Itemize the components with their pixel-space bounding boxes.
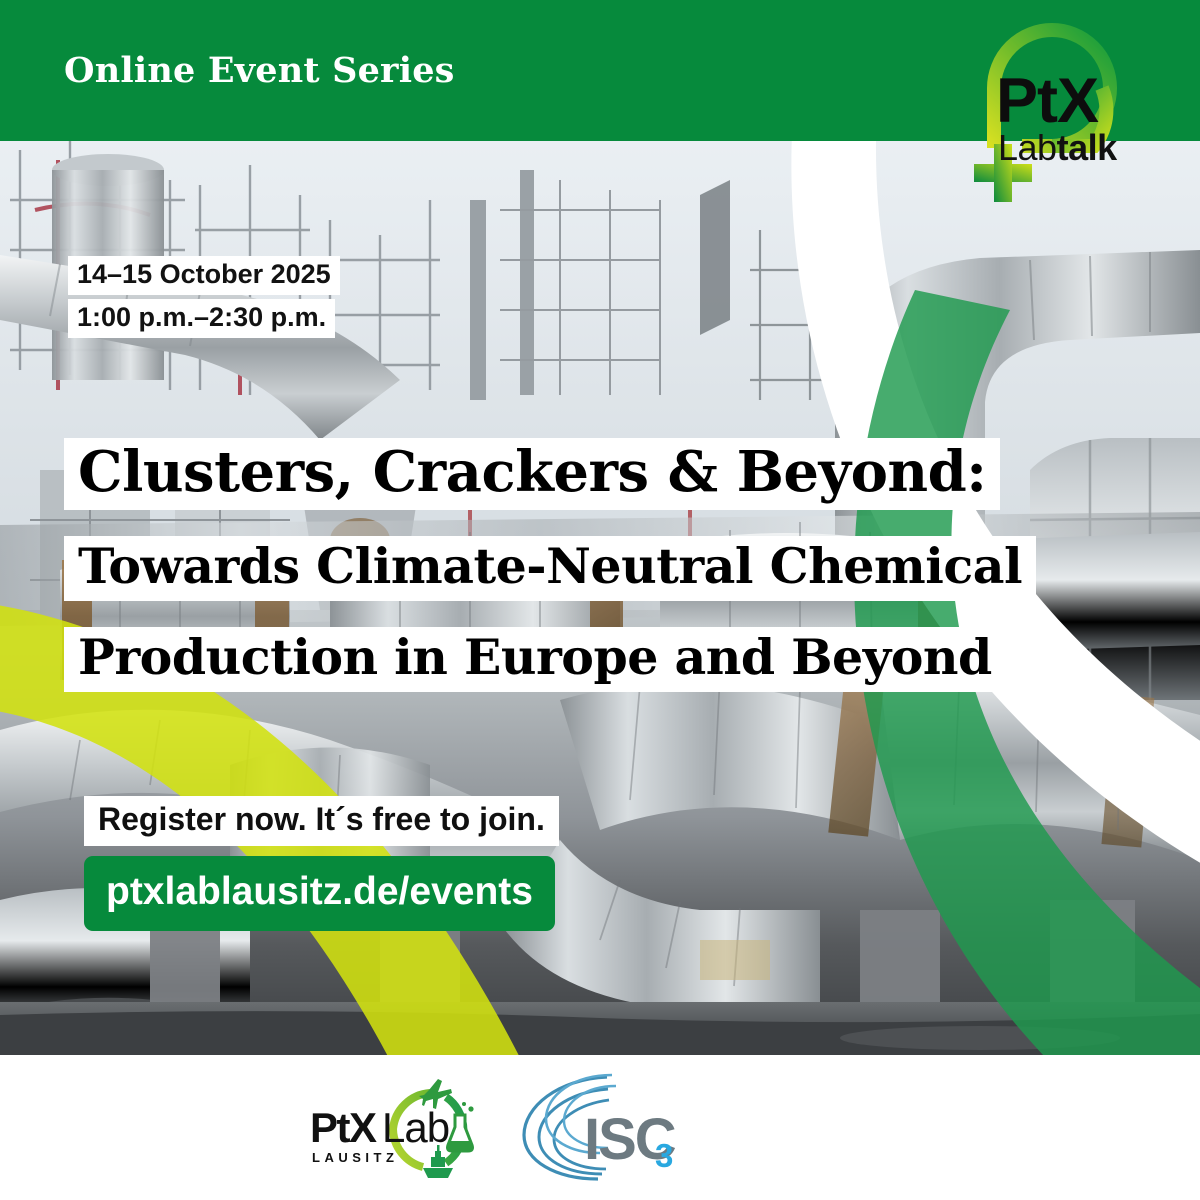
isc3-logo: ISC 3	[512, 1069, 702, 1187]
page-title: Clusters, Crackers & Beyond: Towards Cli…	[64, 438, 1036, 692]
event-dates: 14–15 October 2025	[68, 256, 340, 295]
isc3-subscript: 3	[655, 1139, 673, 1172]
logo-talk: talk	[1057, 127, 1117, 168]
eyebrow-label: Online Event Series	[64, 50, 455, 91]
event-datetime: 14–15 October 2025 1:00 p.m.–2:30 p.m.	[68, 256, 340, 342]
ptxlab-text-lausitz: LAUSITZ	[312, 1151, 398, 1164]
ptxlab-text-ptx: PtX	[310, 1107, 376, 1149]
register-note: Register now. It´s free to join.	[84, 796, 559, 846]
register-url-button[interactable]: ptxlablausitz.de/events	[84, 856, 555, 931]
call-to-action: Register now. It´s free to join. ptxlabl…	[84, 796, 559, 931]
title-line-3: Production in Europe and Beyond	[64, 627, 1006, 692]
ptxlab-text-lab: Lab	[382, 1107, 449, 1149]
title-line-1: Clusters, Crackers & Beyond:	[64, 438, 1000, 510]
event-time: 1:00 p.m.–2:30 p.m.	[68, 299, 335, 338]
title-line-2: Towards Climate-Neutral Chemical	[64, 536, 1036, 601]
footer: PtX Lab LAUSITZ ISC 3	[0, 1055, 1200, 1200]
logo-lab: Lab	[998, 127, 1057, 168]
footer-logos: PtX Lab LAUSITZ ISC 3	[0, 1055, 1200, 1200]
ptxlab-lausitz-logo: PtX Lab LAUSITZ	[305, 1075, 495, 1185]
event-poster: Online Event Series	[0, 0, 1200, 1200]
logo-wordmark-ptx: PtX	[996, 70, 1098, 133]
logo-wordmark-labtalk: Labtalk	[998, 130, 1117, 166]
ptx-labtalk-logo: PtX Labtalk	[944, 18, 1144, 233]
